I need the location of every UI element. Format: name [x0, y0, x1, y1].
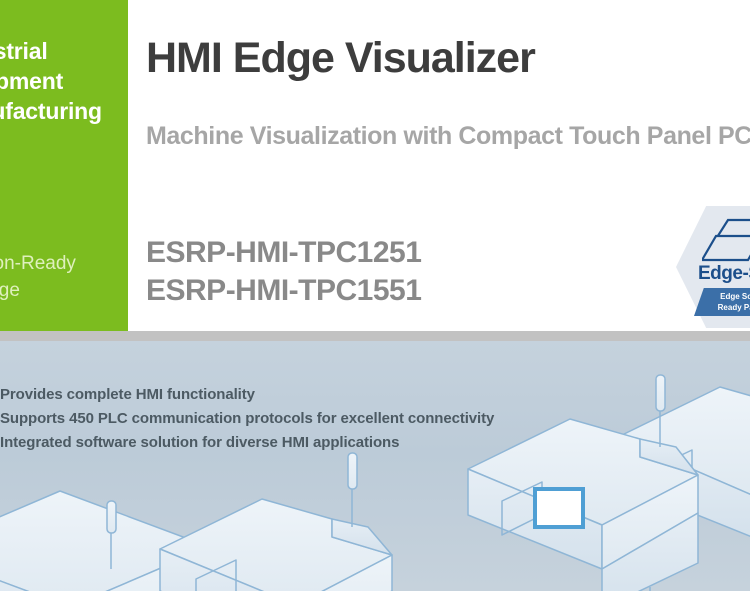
isometric-cnc-machines-line-art — [0, 341, 750, 591]
overlapping-parallelograms-icon — [702, 218, 750, 262]
category-heading-line-3: Manufacturing — [0, 96, 128, 126]
section-divider — [0, 331, 750, 341]
product-title: HMI Edge Visualizer — [146, 34, 750, 83]
feature-item: Supports 450 PLC communication protocols… — [0, 407, 750, 431]
category-subheading-line-2: Package — [0, 277, 128, 304]
edge-solution-badge: Edge-Solution Edge Solution Ready Packag… — [676, 206, 750, 328]
banner-top-section: Industrial Equipment Manufacturing Solut… — [0, 0, 750, 331]
badge-ribbon-line-2: Ready Package — [694, 302, 750, 313]
title-block: HMI Edge Visualizer Machine Visualizatio… — [146, 34, 750, 151]
product-subtitle: Machine Visualization with Compact Touch… — [146, 83, 750, 151]
hmi-touch-panel-screen — [535, 489, 583, 527]
feature-item: Integrated software solution for diverse… — [0, 431, 750, 455]
category-subheading: Solution-Ready Package — [0, 250, 128, 304]
category-heading-line-1: Industrial — [0, 36, 128, 66]
feature-list: Provides complete HMI functionality Supp… — [0, 383, 750, 455]
badge-ribbon: Edge Solution Ready Package — [694, 288, 750, 316]
category-heading: Industrial Equipment Manufacturing — [0, 36, 128, 126]
product-banner: Industrial Equipment Manufacturing Solut… — [0, 0, 750, 591]
category-heading-line-2: Equipment — [0, 66, 128, 96]
model-number-list: ESRP-HMI-TPC1251 ESRP-HMI-TPC1551 — [146, 234, 421, 310]
model-number: ESRP-HMI-TPC1251 — [146, 234, 421, 272]
feature-item: Provides complete HMI functionality — [0, 383, 750, 407]
category-panel: Industrial Equipment Manufacturing Solut… — [0, 0, 128, 333]
banner-bottom-section: Provides complete HMI functionality Supp… — [0, 341, 750, 591]
category-subheading-line-1: Solution-Ready — [0, 250, 128, 277]
badge-title: Edge-Solution — [676, 263, 750, 285]
model-number: ESRP-HMI-TPC1551 — [146, 272, 421, 310]
